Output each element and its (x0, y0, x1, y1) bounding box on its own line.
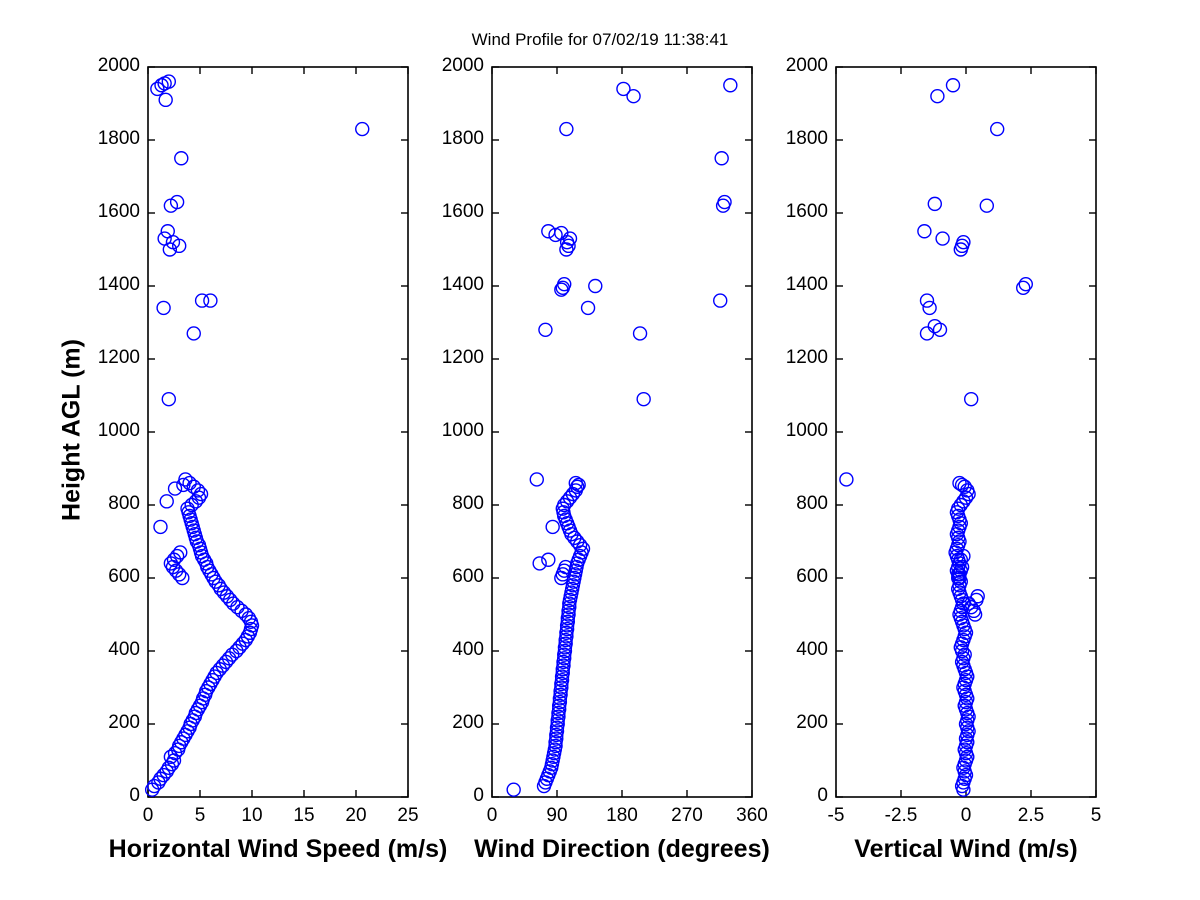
data-point (161, 225, 174, 238)
y-tick-label: 1400 (396, 274, 484, 296)
y-tick-label: 0 (396, 785, 484, 807)
x-tick-label: 5 (1056, 805, 1136, 827)
data-point (947, 79, 960, 92)
data-point (715, 152, 728, 165)
data-point (196, 294, 209, 307)
data-point (724, 79, 737, 92)
y-tick-label: 2000 (52, 55, 140, 77)
y-tick-label: 1800 (396, 128, 484, 150)
y-tick-label: 800 (740, 493, 828, 515)
y-tick-label: 1600 (52, 201, 140, 223)
data-point (921, 327, 934, 340)
data-point (542, 553, 555, 566)
data-point (154, 520, 167, 533)
data-point (539, 323, 552, 336)
y-tick-label: 600 (396, 566, 484, 588)
y-tick-label: 0 (740, 785, 828, 807)
x-tick-label: 25 (368, 805, 448, 827)
y-tick-label: 600 (52, 566, 140, 588)
panel-vertical-wind (836, 67, 1096, 797)
data-point (1019, 278, 1032, 291)
y-tick-label: 800 (396, 493, 484, 515)
data-point (159, 93, 172, 106)
data-point (530, 473, 543, 486)
x-axis-label-vertical-wind: Vertical Wind (m/s) (854, 835, 1077, 864)
y-tick-label: 1200 (396, 347, 484, 369)
y-tick-label: 1000 (740, 420, 828, 442)
data-point (187, 327, 200, 340)
y-tick-label: 1200 (52, 347, 140, 369)
plot-area (0, 0, 1200, 900)
data-point (928, 197, 941, 210)
y-tick-label: 1600 (740, 201, 828, 223)
data-point (158, 232, 171, 245)
x-axis-label-horizontal-wind-speed: Horizontal Wind Speed (m/s) (109, 835, 448, 864)
figure-title: Wind Profile for 07/02/19 11:38:41 (0, 30, 1200, 50)
y-tick-label: 800 (52, 493, 140, 515)
y-tick-label: 1400 (740, 274, 828, 296)
data-point (356, 123, 369, 136)
y-tick-label: 1800 (52, 128, 140, 150)
data-point (160, 495, 173, 508)
y-tick-label: 400 (396, 639, 484, 661)
y-tick-label: 600 (740, 566, 828, 588)
y-tick-label: 200 (740, 712, 828, 734)
data-point (546, 520, 559, 533)
data-point (1017, 281, 1030, 294)
y-tick-label: 1000 (52, 420, 140, 442)
y-tick-label: 2000 (740, 55, 828, 77)
data-point (714, 294, 727, 307)
data-point (542, 225, 555, 238)
wind-profile-figure: Wind Profile for 07/02/19 11:38:41 Heigh… (0, 0, 1200, 900)
data-point (634, 327, 647, 340)
y-tick-label: 0 (52, 785, 140, 807)
data-point (231, 601, 244, 614)
y-tick-label: 2000 (396, 55, 484, 77)
x-axis-label-wind-direction: Wind Direction (degrees) (474, 835, 770, 864)
data-point (560, 123, 573, 136)
y-tick-label: 1600 (396, 201, 484, 223)
data-point (840, 473, 853, 486)
data-point (589, 280, 602, 293)
data-point (162, 393, 175, 406)
y-tick-label: 400 (740, 639, 828, 661)
y-tick-label: 1000 (396, 420, 484, 442)
y-tick-label: 1200 (740, 347, 828, 369)
y-tick-label: 1800 (740, 128, 828, 150)
data-point (965, 393, 978, 406)
data-point (175, 152, 188, 165)
y-tick-label: 1400 (52, 274, 140, 296)
data-point (918, 225, 931, 238)
y-tick-label: 200 (396, 712, 484, 734)
data-point (936, 232, 949, 245)
y-tick-label: 400 (52, 639, 140, 661)
data-point (627, 90, 640, 103)
data-point (923, 301, 936, 314)
data-point (157, 301, 170, 314)
data-point (235, 604, 248, 617)
y-tick-label: 200 (52, 712, 140, 734)
data-point (507, 783, 520, 796)
x-tick-label: 360 (712, 805, 792, 827)
panel-wind-direction (492, 67, 752, 797)
data-point (931, 90, 944, 103)
data-point (921, 294, 934, 307)
data-point (980, 199, 993, 212)
data-point (991, 123, 1004, 136)
data-point (169, 482, 182, 495)
panel-horizontal-wind-speed (146, 67, 408, 797)
data-point (162, 75, 175, 88)
data-point (582, 301, 595, 314)
data-point (533, 557, 546, 570)
data-point (637, 393, 650, 406)
